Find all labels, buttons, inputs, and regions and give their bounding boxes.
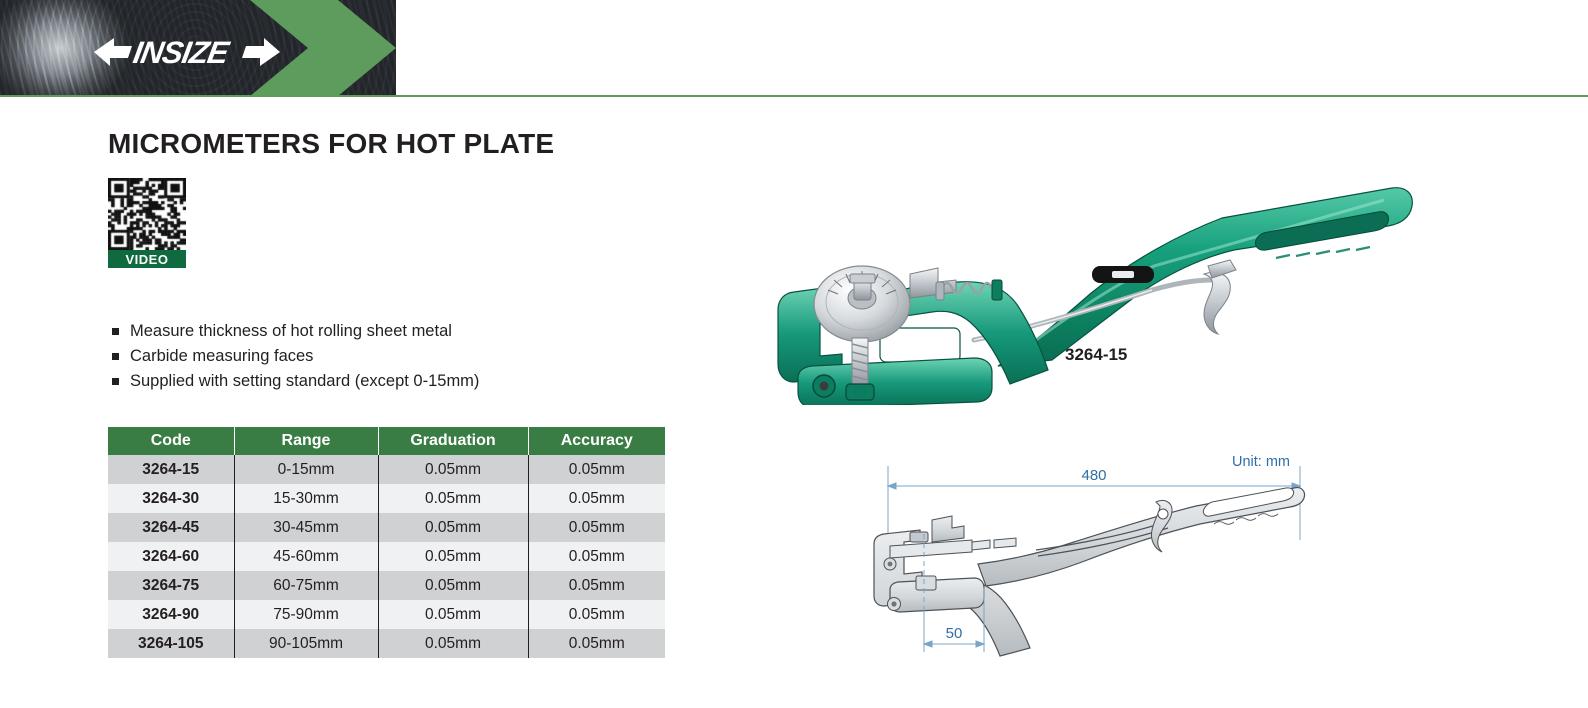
technical-drawing: 480 [860, 448, 1320, 668]
product-caption: 3264-15 [1065, 345, 1127, 365]
cell-graduation: 0.05mm [378, 455, 528, 484]
cell-accuracy: 0.05mm [528, 513, 665, 542]
cell-graduation: 0.05mm [378, 484, 528, 513]
dimension-label-50: 50 [946, 625, 963, 642]
bullet-square-icon [112, 378, 119, 385]
video-qr-block[interactable]: VIDEO [108, 178, 186, 268]
cell-code: 3264-45 [108, 513, 234, 542]
video-label[interactable]: VIDEO [108, 250, 186, 268]
table-row: 3264-10590-105mm0.05mm0.05mm [108, 629, 665, 658]
column-header-accuracy: Accuracy [528, 427, 665, 455]
table-row: 3264-9075-90mm0.05mm0.05mm [108, 600, 665, 629]
table-row: 3264-7560-75mm0.05mm0.05mm [108, 571, 665, 600]
cell-accuracy: 0.05mm [528, 600, 665, 629]
cell-code: 3264-30 [108, 484, 234, 513]
column-header-code: Code [108, 427, 234, 455]
bullet-square-icon [112, 353, 119, 360]
list-item: Carbide measuring faces [112, 345, 632, 368]
column-header-graduation: Graduation [378, 427, 528, 455]
cell-graduation: 0.05mm [378, 600, 528, 629]
cell-range: 0-15mm [234, 455, 378, 484]
table-header-row: Code Range Graduation Accuracy [108, 427, 665, 455]
cell-accuracy: 0.05mm [528, 571, 665, 600]
cell-accuracy: 0.05mm [528, 629, 665, 658]
cell-accuracy: 0.05mm [528, 484, 665, 513]
feature-list: Measure thickness of hot rolling sheet m… [112, 320, 632, 395]
feature-text: Measure thickness of hot rolling sheet m… [130, 320, 452, 343]
qr-code-icon[interactable] [108, 178, 186, 250]
cell-range: 30-45mm [234, 513, 378, 542]
cell-accuracy: 0.05mm [528, 455, 665, 484]
product-datasheet-page: INSIZE MICROMETERS FOR HOT PLATE VIDEO M… [0, 0, 1588, 708]
dimension-label-480: 480 [1081, 467, 1106, 484]
cell-range: 90-105mm [234, 629, 378, 658]
cell-graduation: 0.05mm [378, 542, 528, 571]
cell-range: 15-30mm [234, 484, 378, 513]
cell-code: 3264-75 [108, 571, 234, 600]
svg-text:INSIZE: INSIZE [131, 35, 233, 70]
table-row: 3264-150-15mm0.05mm0.05mm [108, 455, 665, 484]
header-banner: INSIZE [0, 0, 1588, 97]
insize-logo: INSIZE [92, 28, 282, 76]
column-header-range: Range [234, 427, 378, 455]
page-title: MICROMETERS FOR HOT PLATE [108, 128, 554, 160]
table-row: 3264-6045-60mm0.05mm0.05mm [108, 542, 665, 571]
cell-graduation: 0.05mm [378, 571, 528, 600]
cell-range: 75-90mm [234, 600, 378, 629]
feature-text: Supplied with setting standard (except 0… [130, 370, 479, 393]
cell-graduation: 0.05mm [378, 513, 528, 542]
cell-range: 45-60mm [234, 542, 378, 571]
cell-accuracy: 0.05mm [528, 542, 665, 571]
cell-code: 3264-90 [108, 600, 234, 629]
specification-table: Code Range Graduation Accuracy 3264-150-… [108, 427, 665, 658]
feature-text: Carbide measuring faces [130, 345, 313, 368]
table-row: 3264-4530-45mm0.05mm0.05mm [108, 513, 665, 542]
product-photo [760, 170, 1420, 405]
cell-code: 3264-60 [108, 542, 234, 571]
table-row: 3264-3015-30mm0.05mm0.05mm [108, 484, 665, 513]
cell-code: 3264-105 [108, 629, 234, 658]
list-item: Measure thickness of hot rolling sheet m… [112, 320, 632, 343]
cell-code: 3264-15 [108, 455, 234, 484]
cell-graduation: 0.05mm [378, 629, 528, 658]
list-item: Supplied with setting standard (except 0… [112, 370, 632, 393]
banner-bottom-rule [0, 95, 1588, 97]
cell-range: 60-75mm [234, 571, 378, 600]
bullet-square-icon [112, 328, 119, 335]
